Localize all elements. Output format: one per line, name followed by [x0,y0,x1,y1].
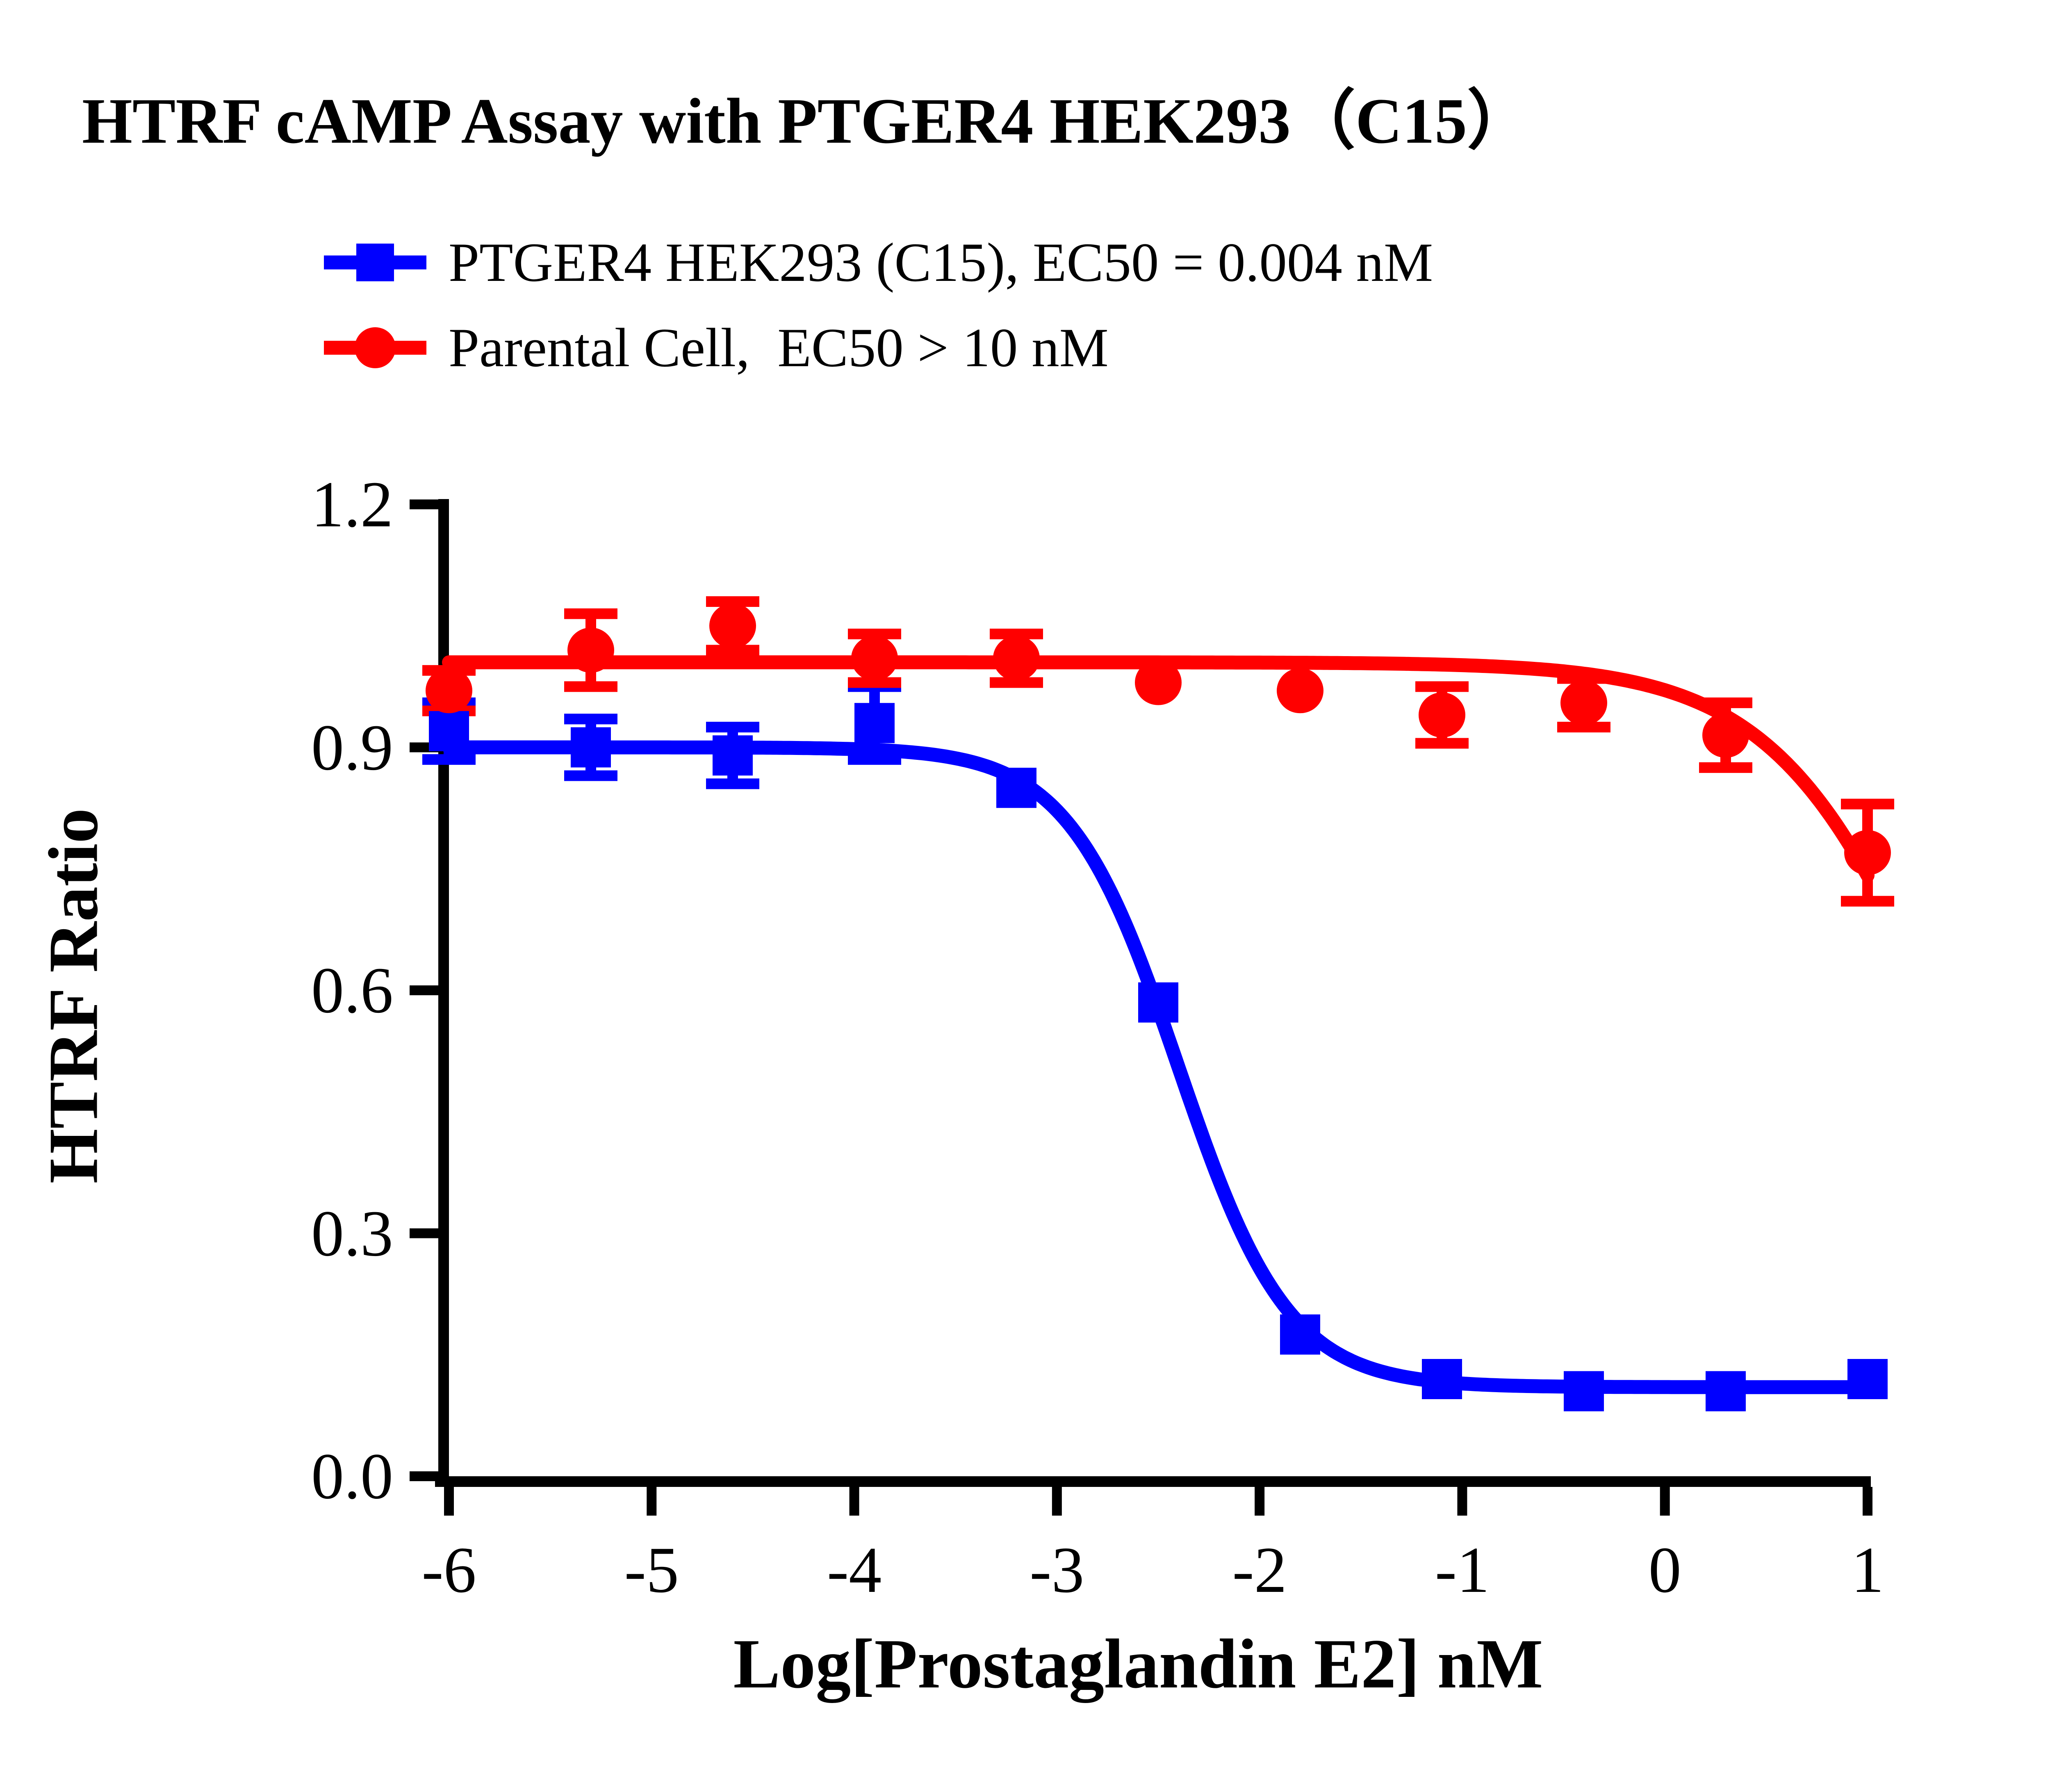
data-point-square-s0-p10[interactable] [1847,1359,1888,1399]
x-tick-label-7: 1 [1806,1532,1929,1608]
data-point-circle-s1-p10[interactable] [1844,830,1891,875]
y-tick-label-0: 1.2 [217,467,393,543]
x-tick-label-4: -2 [1198,1532,1321,1608]
data-point-circle-s1-p4[interactable] [993,636,1040,681]
plot-svg [0,0,2050,1792]
data-point-circle-s1-p6[interactable] [1277,668,1323,713]
data-point-circle-s1-p5[interactable] [1135,660,1182,705]
data-point-square-s0-p9[interactable] [1706,1371,1746,1411]
y-tick-label-4: 0.0 [217,1439,393,1514]
plot-area: 1.20.90.60.30.0-6-5-4-3-2-101 [0,0,2050,1792]
data-point-square-s0-p2[interactable] [713,735,753,775]
y-tick-label-1: 0.9 [217,709,393,785]
data-point-circle-s1-p0[interactable] [426,668,472,713]
data-point-circle-s1-p9[interactable] [1702,713,1749,758]
data-point-square-s0-p4[interactable] [996,768,1036,808]
x-tick-label-0: -6 [387,1532,510,1608]
x-tick-label-2: -4 [793,1532,916,1608]
y-tick-label-2: 0.6 [217,953,393,1028]
data-point-circle-s1-p2[interactable] [709,603,756,648]
data-point-square-s0-p7[interactable] [1422,1359,1462,1399]
data-point-square-s0-p5[interactable] [1138,983,1178,1023]
data-point-square-s0-p3[interactable] [854,703,895,743]
data-point-square-s0-p8[interactable] [1564,1371,1604,1411]
x-axis-title: Log[Prostaglandin E2] nM [0,1624,2050,1705]
data-point-square-s0-p6[interactable] [1280,1314,1320,1354]
chart-root: HTRF cAMP Assay with PTGER4 HEK293（C15） … [0,0,2050,1792]
x-tick-label-5: -1 [1401,1532,1524,1608]
data-point-square-s0-p0[interactable] [429,711,469,751]
data-point-square-s0-p1[interactable] [571,727,611,768]
data-point-circle-s1-p1[interactable] [567,628,614,673]
data-point-circle-s1-p3[interactable] [851,636,898,681]
data-point-circle-s1-p8[interactable] [1560,680,1607,725]
y-axis-title: HTRF Ratio [34,668,114,1324]
y-tick-label-3: 0.3 [217,1195,393,1271]
x-tick-label-1: -5 [590,1532,713,1608]
x-tick-label-3: -3 [995,1532,1118,1608]
x-tick-label-6: 0 [1604,1532,1727,1608]
data-point-circle-s1-p7[interactable] [1419,693,1465,738]
fit-curve-series-0 [449,748,1868,1387]
